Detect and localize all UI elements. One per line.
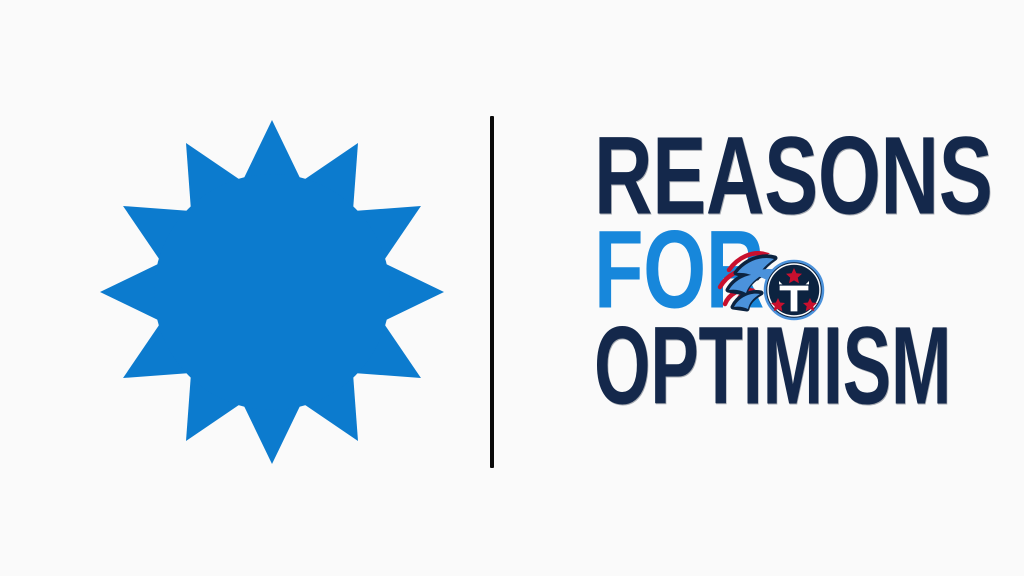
vertical-divider — [490, 116, 494, 468]
title-lockup: REASONS FOR OPTIMISM — [594, 132, 944, 444]
title-line-optimism: OPTIMISM — [594, 322, 951, 412]
tennessee-titans-logo — [716, 244, 828, 322]
sun-icon — [92, 112, 452, 472]
slide-canvas: REASONS FOR OPTIMISM — [0, 0, 1024, 576]
